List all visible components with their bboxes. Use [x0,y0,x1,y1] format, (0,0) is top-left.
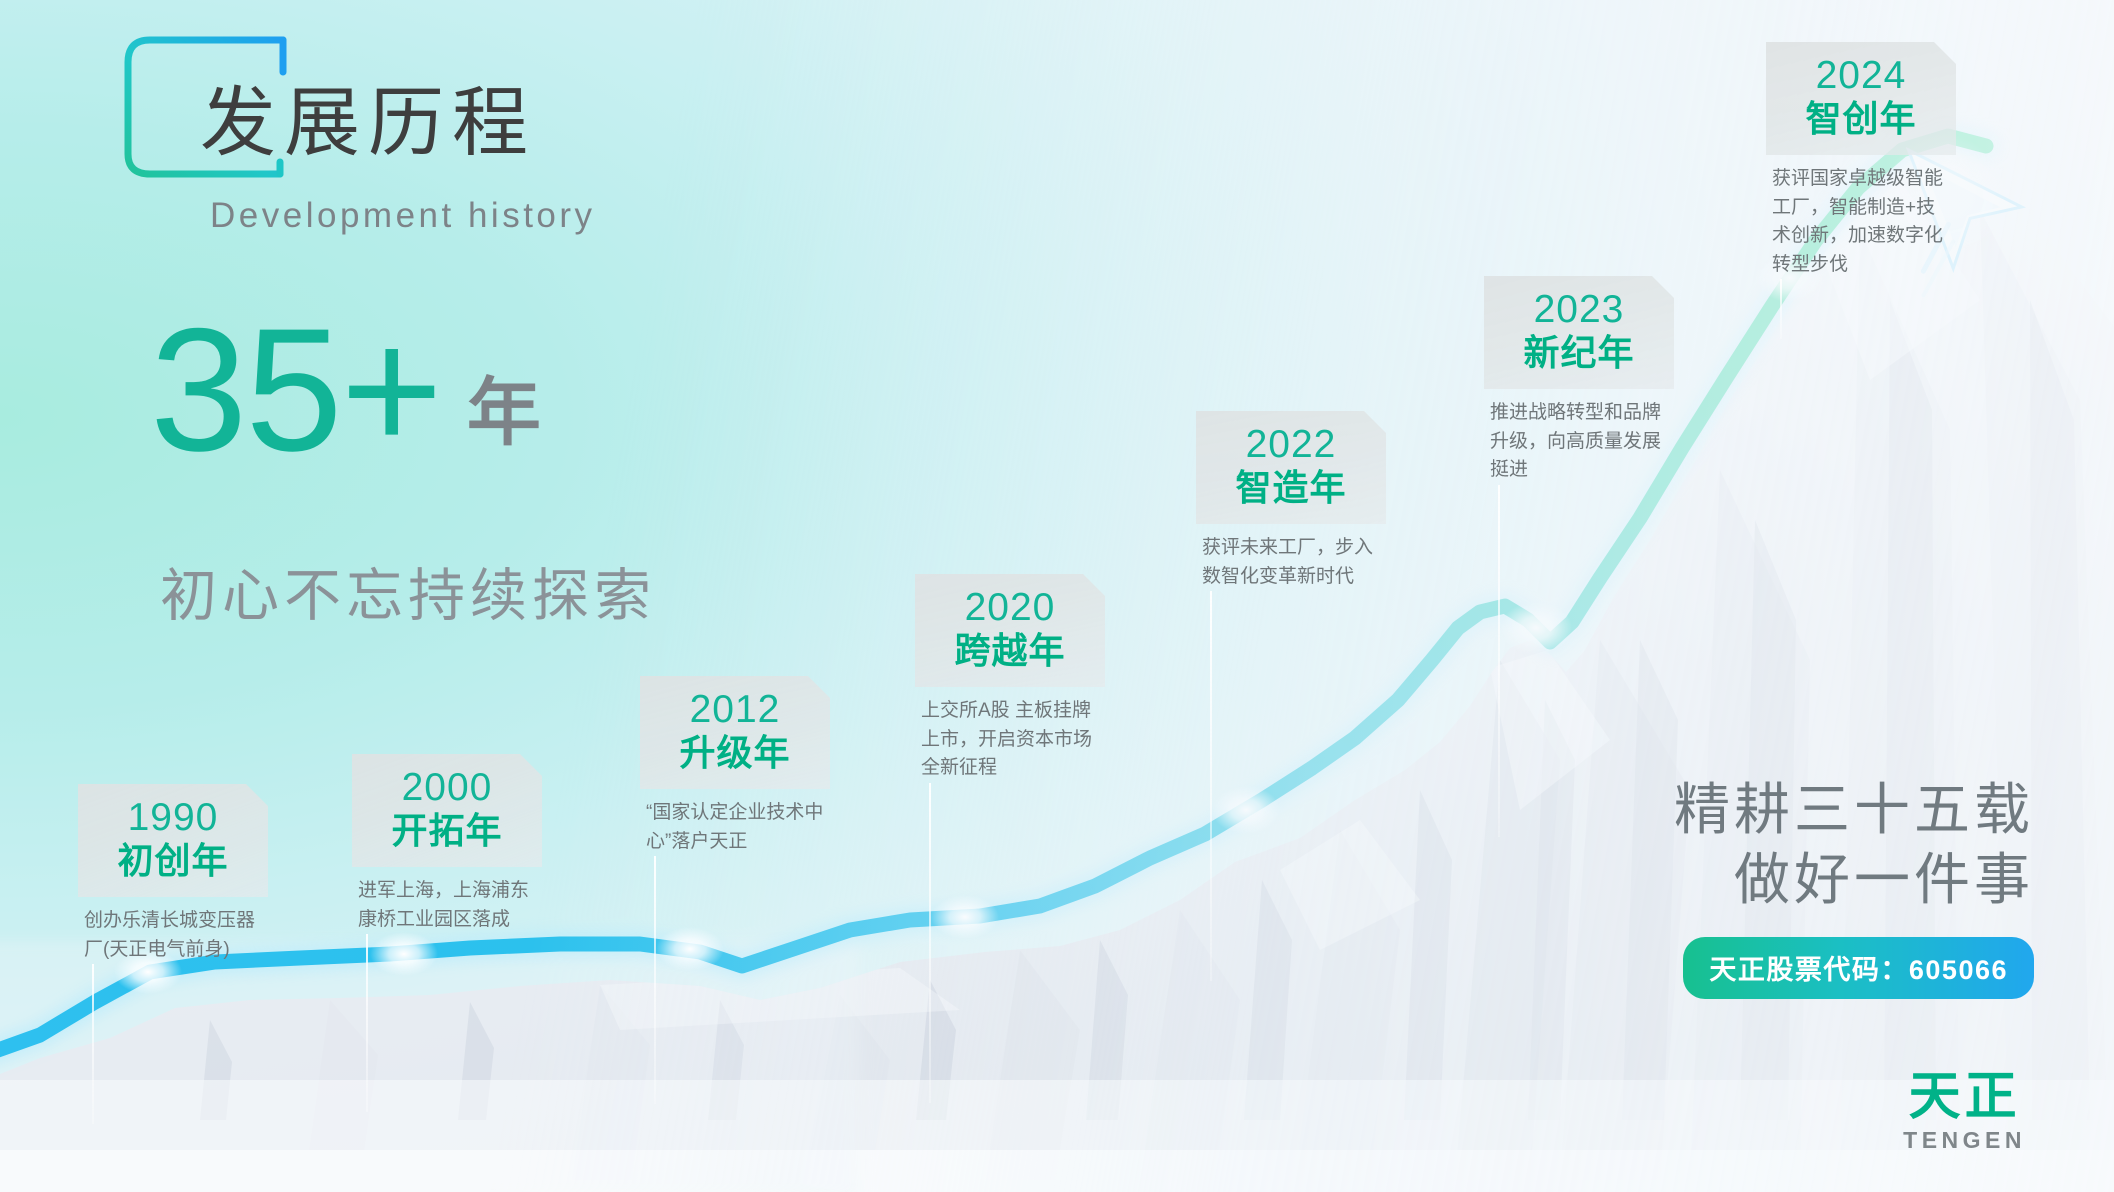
milestone-card-2020[interactable]: 2020 跨越年 上交所A股 主板挂牌上市，开启资本市场全新征程 [915,558,1105,783]
milestone-tag: 初创年 [90,840,256,881]
milestone-stem [1210,591,1212,981]
milestone-card-2022[interactable]: 2022 智造年 获评未来工厂，步入数智化变革新时代 [1196,395,1386,591]
milestone-card-2023[interactable]: 2023 新纪年 推进战略转型和品牌升级，向高质量发展挺进 [1484,260,1674,485]
milestone-card-2024[interactable]: 2024 智创年 获评国家卓越级智能工厂，智能制造+技术创新，加速数字化转型步伐 [1766,26,1956,279]
milestone-panel: 2020 跨越年 [915,574,1105,687]
milestone-card-2000[interactable]: 2000 开拓年 进军上海，上海浦东康桥工业园区落成 [352,738,542,934]
development-history-poster: 发展历程 Development history 35+年 初心不忘持续探索 1… [0,0,2114,1192]
tengen-logo: 天正 TENGEN [1903,1071,2026,1154]
brand-slogan: 精耕三十五载 做好一件事 天正股票代码：605066 [1674,775,2034,999]
hero-number: 35+ [150,310,441,471]
milestone-tag: 升级年 [652,732,818,773]
milestone-year: 2020 [927,588,1093,629]
milestone-stem [1498,485,1500,837]
hero-stat: 35+年 [150,310,541,472]
logo-mark-cn: 天正 [1903,1071,2026,1123]
milestone-stem [929,783,931,1103]
milestone-year: 2012 [652,690,818,731]
stock-code-badge[interactable]: 天正股票代码：605066 [1683,937,2034,999]
milestone-card-1990[interactable]: 1990 初创年 创办乐清长城变压器厂(天正电气前身) [78,768,268,964]
milestone-desc: 进军上海，上海浦东康桥工业园区落成 [352,867,542,934]
milestone-tag: 跨越年 [927,630,1093,671]
milestone-desc: 创办乐清长城变压器厂(天正电气前身) [78,897,268,964]
milestone-tag: 智创年 [1778,98,1944,139]
milestone-year: 2000 [364,768,530,809]
milestone-desc: 获评未来工厂，步入数智化变革新时代 [1196,524,1386,591]
milestone-panel: 2000 开拓年 [352,754,542,867]
milestone-card-2012[interactable]: 2012 升级年 “国家认定企业技术中心”落户天正 [640,660,830,856]
milestone-year: 1990 [90,798,256,839]
slogan-line-2: 做好一件事 [1674,845,2034,915]
page-subtitle-en: Development history [210,198,596,233]
milestone-panel: 2024 智创年 [1766,42,1956,155]
hero-subtitle: 初心不忘持续探索 [160,550,656,632]
milestone-tag: 新纪年 [1496,332,1662,373]
milestone-panel: 2012 升级年 [640,676,830,789]
hero-unit: 年 [467,353,541,460]
milestone-stem [366,934,368,1112]
milestone-year: 2022 [1208,425,1374,466]
milestone-year: 2024 [1778,56,1944,97]
milestone-stem [654,856,656,1104]
milestone-year: 2023 [1496,290,1662,331]
milestone-stem [1780,279,1782,339]
milestone-tag: 开拓年 [364,810,530,851]
milestone-desc: “国家认定企业技术中心”落户天正 [640,789,830,856]
page-title: 发展历程 [200,86,536,162]
milestone-panel: 1990 初创年 [78,784,268,897]
milestone-tag: 智造年 [1208,467,1374,508]
slogan-line-1: 精耕三十五载 [1674,775,2034,845]
milestone-desc: 推进战略转型和品牌升级，向高质量发展挺进 [1484,389,1674,485]
milestone-panel: 2022 智造年 [1196,411,1386,524]
logo-wordmark: TENGEN [1903,1127,2026,1154]
milestone-stem [92,964,94,1124]
milestone-desc: 获评国家卓越级智能工厂，智能制造+技术创新，加速数字化转型步伐 [1766,155,1956,279]
milestone-panel: 2023 新纪年 [1484,276,1674,389]
milestone-desc: 上交所A股 主板挂牌上市，开启资本市场全新征程 [915,687,1105,783]
